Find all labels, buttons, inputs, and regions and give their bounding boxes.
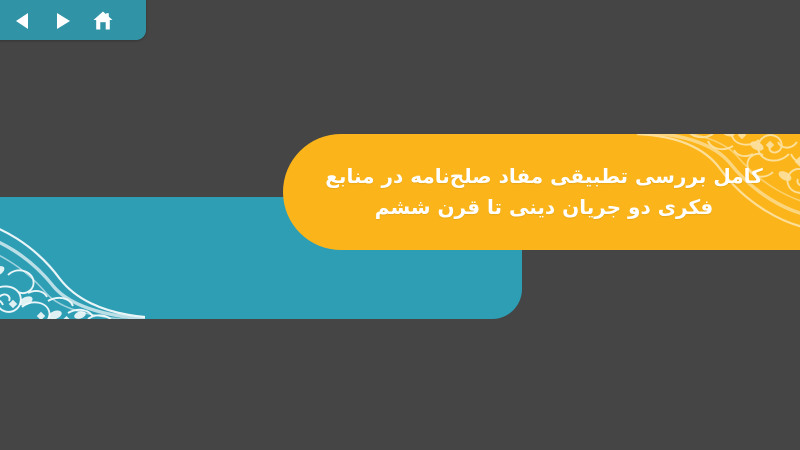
title-banner: کامل بررسی تطبیقی مفاد صلح‌نامه در منابع… — [283, 134, 800, 250]
home-icon — [92, 10, 114, 32]
slide-canvas: کامل بررسی تطبیقی مفاد صلح‌نامه در منابع… — [0, 0, 800, 450]
back-button[interactable] — [10, 8, 36, 34]
title-line-1: کامل بررسی تطبیقی مفاد صلح‌نامه در منابع — [309, 161, 779, 192]
home-button[interactable] — [90, 8, 116, 34]
teal-arabesque-ornament — [0, 197, 145, 319]
triangle-right-icon — [53, 11, 73, 31]
page-title: کامل بررسی تطبیقی مفاد صلح‌نامه در منابع… — [309, 161, 779, 223]
forward-button[interactable] — [50, 8, 76, 34]
triangle-left-icon — [13, 11, 33, 31]
navigation-toolbar — [0, 0, 146, 40]
title-line-2: فکری دو جریان دینی تا قرن ششم — [309, 192, 779, 223]
